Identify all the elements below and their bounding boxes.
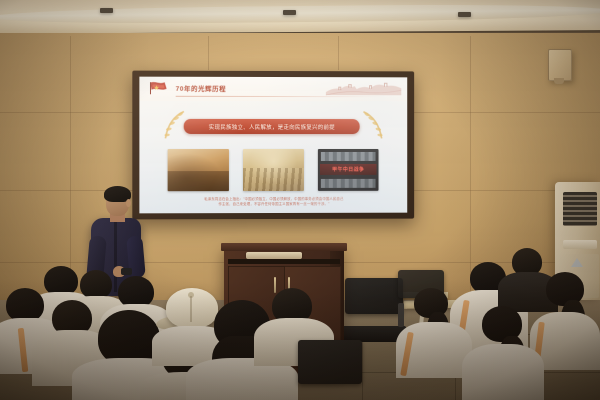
speaker-mount [554,78,564,84]
slide-caption-line: 作主张，自己来处理，不容许任何帝国主义国家再有一丝一毫的干涉。" [170,202,378,207]
wall-seam [338,36,339,70]
podium-ledge [246,252,302,259]
office-chair-back [345,278,403,314]
slide-banner: 实现民族独立、人民解放，是走向民族复兴的前提 [184,119,360,134]
red-flag-icon [149,81,171,96]
ac-control-panel [563,240,597,249]
historic-ruins-photo [243,149,304,191]
podium-recess [228,259,340,264]
ac-vent-grille [563,192,597,226]
poster-title-band: 甲午中日战争 [320,164,377,175]
podium-top-surface [221,243,347,251]
wheat-sprig-icon [360,110,386,140]
office-chair-armrest [398,303,404,327]
presentation-remote[interactable] [121,268,132,275]
presenter-shirt-placket [114,222,117,292]
presenter-ear [126,199,131,207]
projection-screen-frame: 70年的光辉历程 [132,71,414,220]
poster-top-strip [321,152,376,161]
wall-seam [70,36,71,304]
ac-airflow-indicator [571,258,583,267]
poster-title-text: 甲午中日战争 [332,166,364,173]
slide-banner-text: 实现民族独立、人民解放，是走向民族复兴的前提 [209,122,335,130]
podium-door-handle[interactable] [274,277,276,293]
slide-photo-row: 甲午中日战争 [168,149,380,191]
cap-seam [190,296,192,322]
ceiling-light-fixture [458,12,471,17]
wall-speaker [548,49,572,81]
poster-bottom-strip [321,179,376,188]
ceiling-light-fixture [100,8,113,13]
lecture-hall-photo: 70年的光辉历程 [0,0,600,400]
slide-title: 70年的光辉历程 [176,84,227,93]
projection-screen: 70年的光辉历程 [139,77,407,214]
slide-caption: 毛泽东同志在会上指出："中国必须独立，中国必须解放，中国的事务必须由中国人民自己… [170,197,378,207]
office-chair-back [298,340,362,384]
historic-construction-photo [168,149,229,191]
newsreel-poster-photo: 甲午中日战争 [318,149,379,191]
audience-shoulders [462,344,544,400]
great-wall-illustration-icon [326,80,401,97]
audience-head [80,270,112,299]
wall-seam [208,36,209,70]
wall-seam [470,36,471,304]
audience-head [6,288,44,322]
floor-tile-line [362,334,363,400]
ceiling-light-fixture [283,10,296,15]
